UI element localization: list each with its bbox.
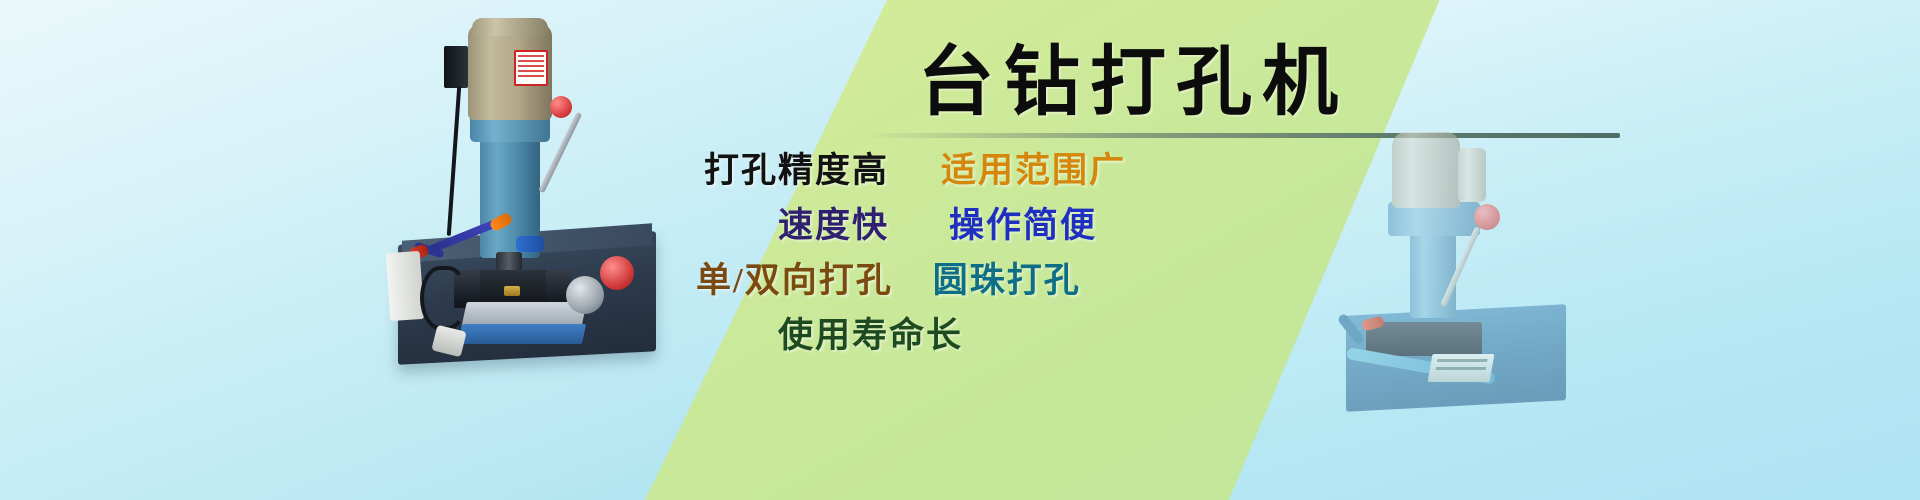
feature-item: 操作简便 [949, 198, 1097, 253]
lever-knob [550, 96, 572, 118]
work-vise [1366, 322, 1482, 356]
feature-item: 使用寿命长 [778, 308, 963, 363]
product-banner: 台钻打孔机 打孔精度高 适用范围广 速度快 操作简便 单/双向打孔 圆珠打孔 使… [0, 0, 1920, 500]
product-card [1428, 354, 1495, 382]
banner-title: 台钻打孔机 [918, 40, 1348, 126]
motor-spec-label [514, 50, 548, 86]
brass-workpiece [504, 286, 520, 296]
feature-list: 打孔精度高 适用范围广 速度快 操作简便 单/双向打孔 圆珠打孔 使用寿命长 [690, 143, 1250, 363]
adjust-handle [600, 256, 634, 290]
lever-knob [1474, 204, 1500, 230]
feature-row-2: 速度快 操作简便 [690, 198, 1250, 253]
feature-row-4: 使用寿命长 [690, 308, 1250, 363]
feature-item: 速度快 [778, 198, 889, 253]
blue-cap [516, 236, 544, 252]
left-machine-image [368, 8, 658, 368]
feature-item: 适用范围广 [941, 143, 1126, 198]
hand-wheel [566, 276, 604, 314]
feature-row-3: 单/双向打孔 圆珠打孔 [690, 253, 1250, 308]
feature-row-1: 打孔精度高 适用范围广 [690, 143, 1250, 198]
feature-item: 圆珠打孔 [933, 253, 1081, 308]
machine-motor-cap [472, 18, 548, 36]
coiled-cord [420, 266, 468, 330]
switch-box [444, 46, 468, 88]
feature-item: 单/双向打孔 [696, 253, 893, 308]
control-box [386, 251, 425, 321]
motor-capacitor [1458, 148, 1486, 202]
machine-motor [1392, 132, 1460, 208]
right-machine-image [1318, 110, 1618, 410]
blue-tray [458, 324, 586, 344]
feature-item: 打孔精度高 [704, 143, 889, 198]
power-cable [447, 86, 461, 236]
